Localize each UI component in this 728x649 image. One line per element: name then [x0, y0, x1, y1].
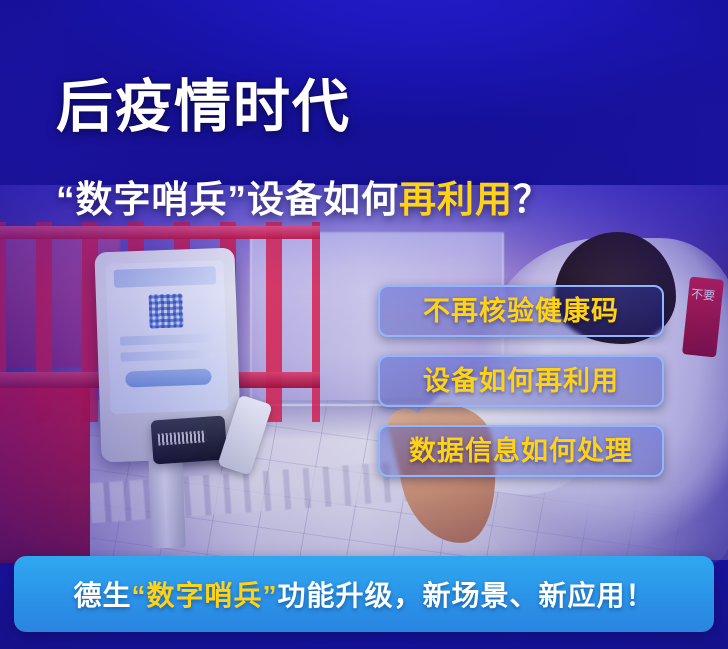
page-title: 后疫情时代 [56, 76, 351, 138]
banner-text: 德生“数字哨兵”功能升级，新场景、新应用！ [73, 574, 654, 614]
subtitle-part-3: ？ [513, 179, 551, 220]
banner-text-after: 功能升级，新场景、新应用！ [278, 580, 655, 611]
red-wall-panel [0, 388, 90, 563]
bottom-banner: 德生“数字哨兵”功能升级，新场景、新应用！ [14, 556, 714, 632]
poster-root: 不要 后疫情时代 “数字哨兵”设备如何再利用？ 不再核验健康码 设备如何再利用 [0, 0, 728, 649]
kiosk-screen [105, 260, 228, 414]
list-item[interactable]: 数据信息如何处理 [378, 425, 664, 477]
fence-rail-top [0, 226, 320, 239]
kiosk-screen-header [114, 266, 217, 288]
pill-label: 不再核验健康码 [423, 296, 619, 326]
pill-label: 设备如何再利用 [423, 366, 619, 396]
qr-code-icon [149, 293, 184, 328]
pill-label: 数据信息如何处理 [409, 436, 633, 466]
list-item[interactable]: 设备如何再利用 [378, 355, 664, 407]
kiosk-stand [148, 451, 185, 548]
page-subtitle: “数字哨兵”设备如何再利用？ [56, 178, 551, 222]
kiosk-screen-line [120, 333, 214, 345]
subtitle-part-1: “数字哨兵”设备如何 [56, 179, 399, 220]
question-pill-list: 不再核验健康码 设备如何再利用 数据信息如何处理 [378, 285, 664, 495]
subtitle-highlight: 再利用 [399, 179, 513, 220]
kiosk-screen-line [121, 349, 215, 361]
banner-text-before: 德生 [73, 580, 131, 611]
kiosk-screen-button [125, 368, 212, 387]
red-sign-badge-text: 不要 [689, 287, 716, 304]
list-item[interactable]: 不再核验健康码 [378, 285, 664, 337]
banner-text-highlight: “数字哨兵” [131, 580, 277, 611]
